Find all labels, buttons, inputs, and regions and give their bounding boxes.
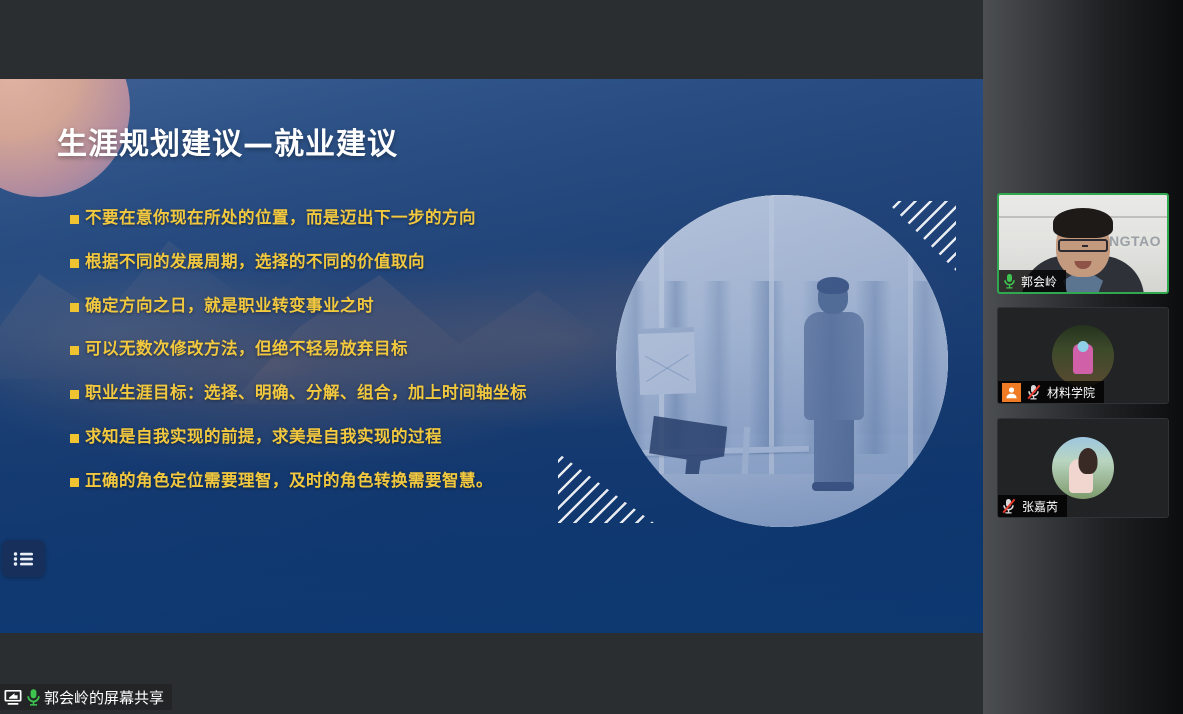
video-wall-logo-text: INGTAO xyxy=(1105,233,1161,249)
bullet-marker-icon xyxy=(70,390,79,399)
share-status-text: 郭会岭的屏幕共享 xyxy=(44,687,164,708)
bullet-text: 确定方向之日，就是职业转变事业之时 xyxy=(85,296,374,316)
participant-tile[interactable]: 材料学院 xyxy=(997,307,1169,404)
share-status-label: 郭会岭的屏幕共享 xyxy=(0,684,172,710)
conference-screen: 生涯规划建议—就业建议 不要在意你现在所处的位置，而是迈出下一步的方向 根据不同… xyxy=(0,0,1183,714)
video-person-hair xyxy=(1053,208,1113,238)
microphone-icon xyxy=(26,688,41,706)
share-top-letterbox xyxy=(0,0,983,79)
participant-name-chip: 郭会岭 xyxy=(999,270,1066,292)
bullet-text: 可以无数次修改方法，但绝不轻易放弃目标 xyxy=(85,339,408,359)
avatar xyxy=(1052,437,1114,499)
bullet-item: 可以无数次修改方法，但绝不轻易放弃目标 xyxy=(70,339,630,359)
bullet-item: 正确的角色定位需要理智，及时的角色转换需要智慧。 xyxy=(70,471,630,491)
slide-bullet-list: 不要在意你现在所处的位置，而是迈出下一步的方向 根据不同的发展周期，选择的不同的… xyxy=(70,208,630,515)
participant-name: 材料学院 xyxy=(1047,384,1095,401)
slide-menu-button[interactable] xyxy=(2,540,45,577)
bullet-item: 根据不同的发展周期，选择的不同的价值取向 xyxy=(70,252,630,272)
bullet-text: 不要在意你现在所处的位置，而是迈出下一步的方向 xyxy=(85,208,476,228)
bullet-item: 职业生涯目标：选择、明确、分解、组合，加上时间轴坐标 xyxy=(70,383,630,403)
participant-name-chip: 材料学院 xyxy=(998,381,1104,403)
microphone-muted-icon xyxy=(1002,498,1017,514)
bullet-marker-icon xyxy=(70,303,79,312)
participant-name: 郭会岭 xyxy=(1021,273,1057,290)
avatar xyxy=(1052,325,1114,387)
bullet-marker-icon xyxy=(70,215,79,224)
participant-tile[interactable]: 张嘉芮 xyxy=(997,418,1169,518)
video-person-glasses xyxy=(1058,239,1108,252)
bullet-marker-icon xyxy=(70,259,79,268)
participant-tile[interactable]: INGTAO 郭会岭 xyxy=(997,193,1169,294)
bullet-marker-icon xyxy=(70,346,79,355)
participant-name: 张嘉芮 xyxy=(1022,498,1058,515)
bullet-marker-icon xyxy=(70,434,79,443)
bullet-item: 求知是自我实现的前提，求美是自我实现的过程 xyxy=(70,427,630,447)
bullet-text: 正确的角色定位需要理智，及时的角色转换需要智慧。 xyxy=(85,471,493,491)
participant-name-chip: 张嘉芮 xyxy=(998,495,1067,517)
slide-photo xyxy=(616,195,948,527)
microphone-muted-icon xyxy=(1027,384,1042,400)
screen-share-icon xyxy=(3,688,23,706)
list-menu-icon xyxy=(13,551,35,567)
participant-rail[interactable]: INGTAO 郭会岭 xyxy=(983,0,1183,714)
bullet-item: 不要在意你现在所处的位置，而是迈出下一步的方向 xyxy=(70,208,630,228)
bullet-item: 确定方向之日，就是职业转变事业之时 xyxy=(70,296,630,316)
bullet-text: 根据不同的发展周期，选择的不同的价值取向 xyxy=(85,252,425,272)
bullet-text: 职业生涯目标：选择、明确、分解、组合，加上时间轴坐标 xyxy=(85,383,527,403)
host-person-icon xyxy=(1002,383,1021,402)
bullet-marker-icon xyxy=(70,478,79,487)
slide-photo-circle xyxy=(616,195,948,527)
shared-slide[interactable]: 生涯规划建议—就业建议 不要在意你现在所处的位置，而是迈出下一步的方向 根据不同… xyxy=(0,79,983,633)
photo-blue-tint-overlay xyxy=(616,195,948,527)
bullet-text: 求知是自我实现的前提，求美是自我实现的过程 xyxy=(85,427,442,447)
microphone-icon xyxy=(1003,273,1016,289)
slide-title: 生涯规划建议—就业建议 xyxy=(57,119,398,163)
